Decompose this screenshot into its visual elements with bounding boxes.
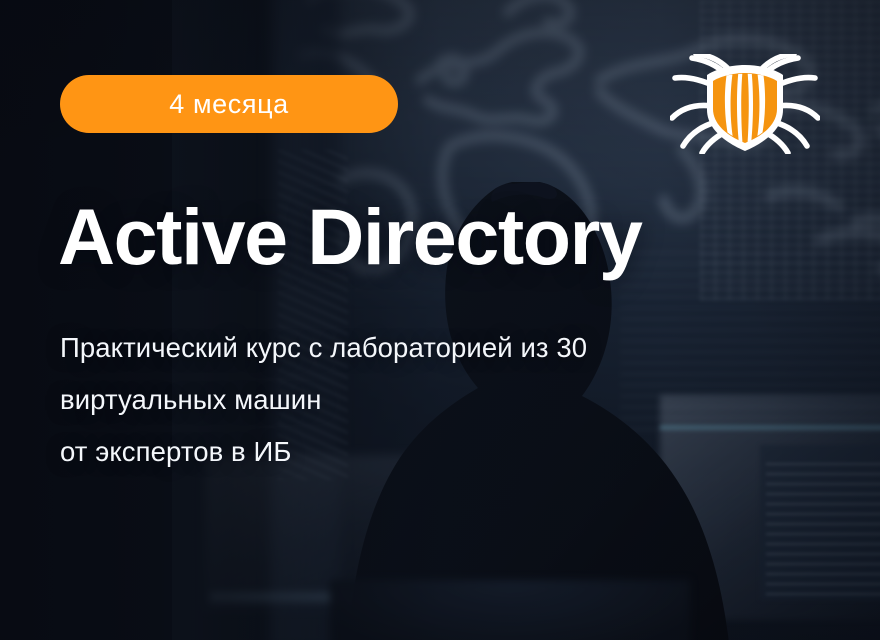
subtitle-line-1: Практический курс с лабораторией из 30 bbox=[60, 322, 800, 374]
banner-content: 4 месяца Active Directory Практический к… bbox=[0, 0, 880, 640]
duration-badge: 4 месяца bbox=[60, 75, 398, 133]
course-promo-banner: 4 месяца Active Directory Практический к… bbox=[0, 0, 880, 640]
duration-badge-label: 4 месяца bbox=[169, 91, 289, 118]
beetle-shield-logo bbox=[670, 54, 820, 154]
subtitle-line-2: виртуальных машин bbox=[60, 374, 800, 426]
course-subtitle: Практический курс с лабораторией из 30 в… bbox=[60, 322, 800, 478]
course-title: Active Directory bbox=[58, 197, 642, 276]
subtitle-line-3: от экспертов в ИБ bbox=[60, 426, 800, 478]
